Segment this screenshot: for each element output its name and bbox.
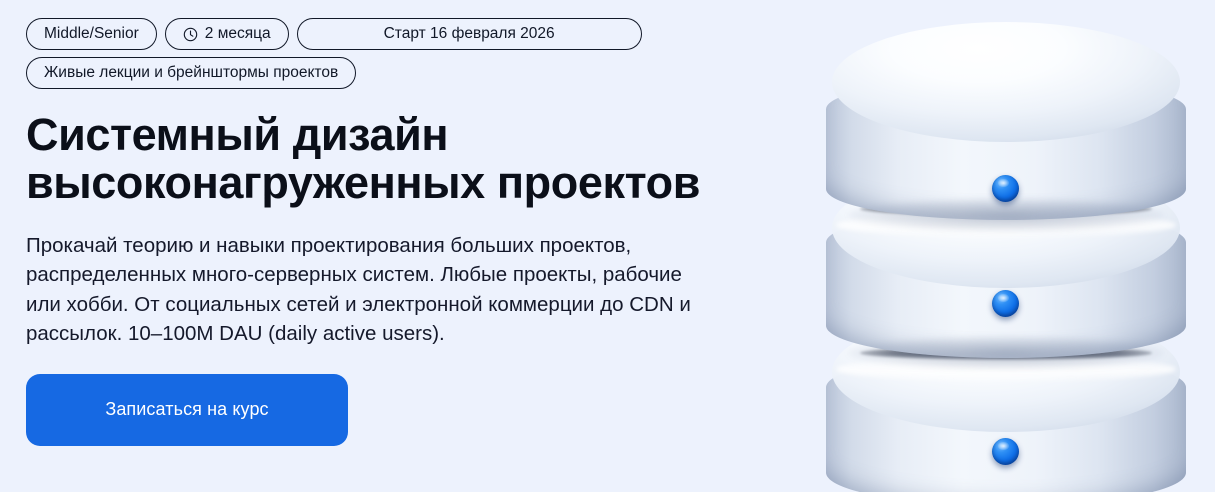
badge-start-date-label: Старт 16 февраля 2026 <box>384 26 555 42</box>
page-title: Системный дизайн высоконагруженных проек… <box>26 111 800 207</box>
enroll-button[interactable]: Записаться на курс <box>26 374 348 446</box>
badge-duration-label: 2 месяца <box>205 26 271 42</box>
badge-format[interactable]: Живые лекции и брейнштормы проектов <box>26 57 356 89</box>
badge-level-label: Middle/Senior <box>44 26 139 42</box>
led-indicator-middle <box>992 290 1019 317</box>
badge-row-1: Middle/Senior 2 месяца Старт 16 февраля … <box>26 18 800 50</box>
disc-shadow-top <box>848 198 1164 232</box>
disc-top-face-top <box>832 22 1180 142</box>
course-hero-banner: Middle/Senior 2 месяца Старт 16 февраля … <box>0 0 1215 492</box>
course-description: Прокачай теорию и навыки проектирования … <box>26 231 716 347</box>
badge-start-date[interactable]: Старт 16 февраля 2026 <box>297 18 642 50</box>
page-title-line-2: высоконагруженных проектов <box>26 159 800 207</box>
led-indicator-top <box>992 175 1019 202</box>
page-title-line-1: Системный дизайн <box>26 111 800 159</box>
badge-row-2: Живые лекции и брейнштормы проектов <box>26 57 800 89</box>
database-stack-3d <box>826 22 1186 492</box>
database-disc-top <box>826 22 1186 242</box>
badge-level[interactable]: Middle/Senior <box>26 18 157 50</box>
disc-shadow-middle <box>848 336 1164 370</box>
led-indicator-bottom <box>992 438 1019 465</box>
badge-format-label: Живые лекции и брейнштормы проектов <box>44 65 338 81</box>
badge-duration[interactable]: 2 месяца <box>165 18 289 50</box>
badge-group: Middle/Senior 2 месяца Старт 16 февраля … <box>26 18 800 89</box>
hero-content: Middle/Senior 2 месяца Старт 16 февраля … <box>0 0 800 492</box>
database-illustration <box>800 0 1215 492</box>
clock-icon <box>183 27 198 42</box>
